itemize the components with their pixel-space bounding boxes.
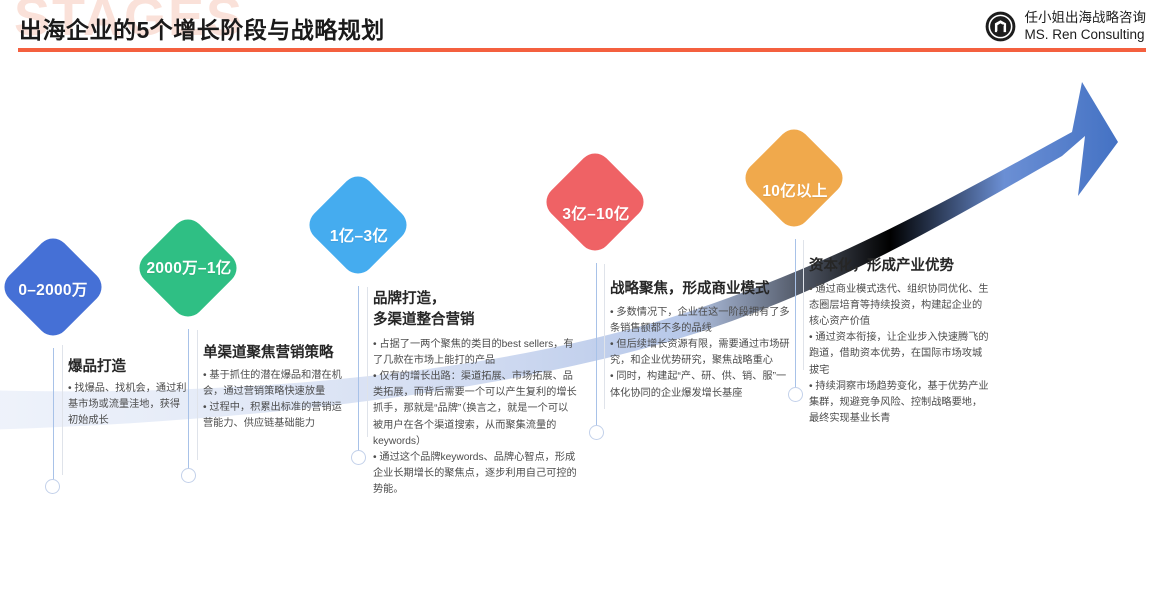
stage-connector-4 [596, 263, 597, 433]
stage-marker-3[interactable] [351, 450, 366, 465]
stage-badge-label-2: 2000万–1亿 [133, 257, 245, 277]
ms-ren-logo-icon [985, 11, 1016, 42]
stage-heading-4: 战略聚焦，形成商业模式 [610, 279, 810, 300]
stage-badge-label-1: 0–2000万 [3, 279, 103, 299]
stage-heading-5: 资本化，形成产业优势 [809, 256, 1009, 277]
stage-connector-3 [358, 286, 359, 458]
brand-name-en: MS. Ren Consulting [1025, 27, 1147, 44]
stage-divider-2 [197, 330, 198, 460]
brand-name-cn: 任小姐出海战略咨询 [1025, 10, 1147, 27]
growth-arrow-icon [0, 60, 1164, 602]
page-title: 出海企业的5个增长阶段与战略规划 [19, 11, 385, 45]
stage-badge-label-3: 1亿–3亿 [309, 225, 409, 245]
brand-block: 任小姐出海战略咨询 MS. Ren Consulting [985, 10, 1147, 44]
stage-divider-1 [62, 345, 63, 475]
stage-body-3: • 占据了一两个聚焦的类目的best sellers，有了几款在市场上能打的产品… [373, 337, 578, 498]
stage-divider-4 [604, 264, 605, 409]
stage-connector-1 [53, 348, 54, 488]
stage-divider-3 [367, 287, 368, 437]
stage-body-5: • 通过商业模式迭代、组织协同优化、生态圈层培育等持续投资，构建起企业的核心资产… [809, 282, 989, 427]
page-header: STAGES 出海企业的5个增长阶段与战略规划 任小姐出海战略咨询 MS. Re… [0, 0, 1164, 60]
stage-badge-label-5: 10亿以上 [743, 180, 847, 200]
stage-heading-1: 爆品打造 [68, 357, 198, 378]
stage-heading-2: 单渠道聚焦营销策略 [203, 343, 363, 364]
stage-marker-1[interactable] [45, 479, 60, 494]
stage-connector-5 [795, 239, 796, 394]
brand-text: 任小姐出海战略咨询 MS. Ren Consulting [1025, 10, 1147, 44]
stage-body-2: • 基于抓住的潜在爆品和潜在机会，通过营销策略快速放量 • 过程中，积累出标准的… [203, 368, 351, 432]
stage-connector-2 [188, 329, 189, 477]
stage-body-1: • 找爆品、找机会，通过利基市场或流量洼地，获得初始成长 [68, 381, 188, 429]
title-divider-rule [18, 48, 1146, 52]
stage-body-4: • 多数情况下，企业在这一阶段拥有了多条销售额都不多的品线 • 但后续增长资源有… [610, 305, 790, 402]
stage-heading-3: 品牌打造， 多渠道整合营销 [373, 289, 573, 331]
stage-divider-5 [803, 240, 804, 370]
stage-marker-4[interactable] [589, 425, 604, 440]
stage-marker-5[interactable] [788, 387, 803, 402]
stage-badge-label-4: 3亿–10亿 [544, 203, 648, 223]
stage-marker-2[interactable] [181, 468, 196, 483]
